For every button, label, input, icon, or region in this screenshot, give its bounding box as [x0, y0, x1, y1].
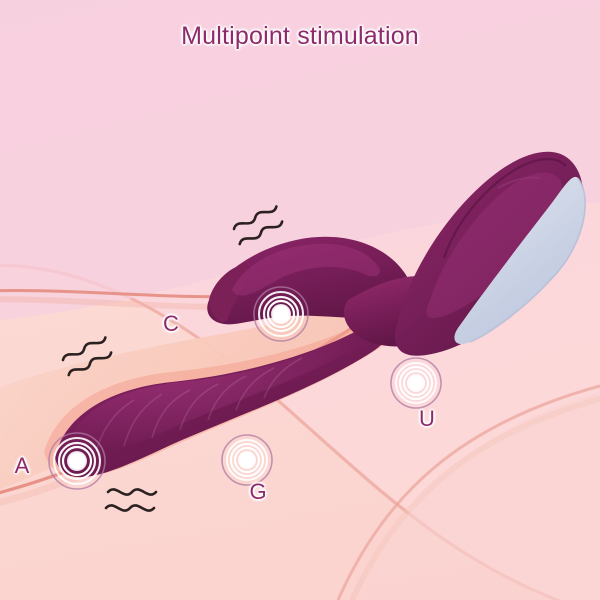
product-illustration-screen: Multipoint stimulation A C G U — [0, 0, 600, 600]
illustration-canvas — [0, 0, 600, 600]
